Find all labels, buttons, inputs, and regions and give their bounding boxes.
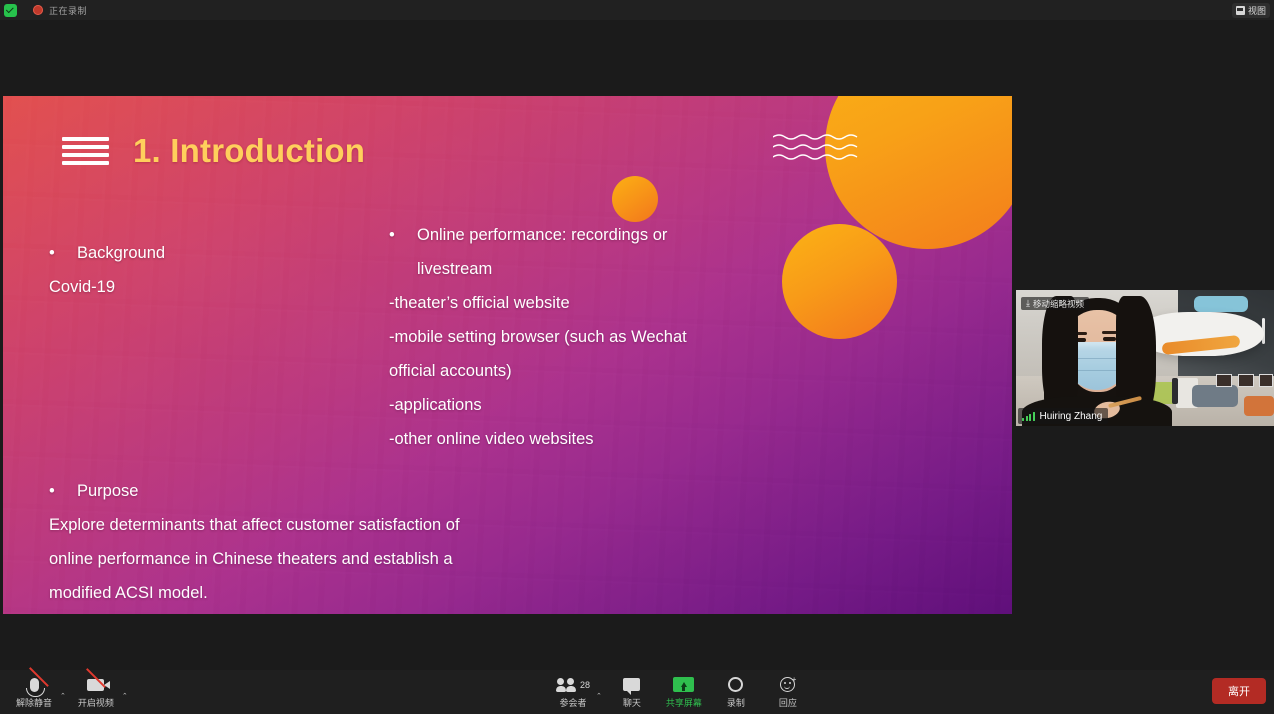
video-feed: [1016, 290, 1274, 426]
bullet-dot-icon: [49, 474, 77, 508]
mute-label: 解除静音: [16, 696, 52, 709]
wavy-lines-icon: [773, 133, 869, 163]
mobile-browser-line: -mobile setting browser (such as Wechat: [389, 320, 779, 354]
video-options-caret-icon[interactable]: ⌃: [122, 693, 132, 712]
move-thumbnail-button[interactable]: ⤓ 移动缩略视频: [1021, 297, 1089, 310]
recording-status-label: 正在录制: [49, 4, 87, 17]
hamburger-icon: [62, 137, 109, 165]
reactions-smiley-icon: +: [780, 675, 795, 694]
bullet-dot-icon: [389, 218, 417, 252]
livestream-line: livestream: [389, 252, 779, 286]
participants-button[interactable]: 28 参会者: [550, 673, 596, 712]
start-video-label: 开启视频: [78, 696, 114, 709]
slide-title: 1. Introduction: [133, 132, 365, 170]
top-status-bar: 正在录制 视图: [0, 0, 1274, 20]
applications-line: -applications: [389, 388, 779, 422]
shared-screen-slide[interactable]: 1. Introduction Background Covid-19 Onli…: [3, 96, 1012, 614]
share-screen-button[interactable]: 共享屏幕: [658, 673, 710, 712]
view-layout-label: 视图: [1248, 4, 1266, 17]
share-screen-icon: [673, 675, 694, 694]
shield-check-icon[interactable]: [4, 4, 17, 17]
toolbar-left-group: 解除静音 ⌃ 开启视频 ⌃: [8, 673, 132, 712]
background-bullet-label: Background: [77, 236, 165, 270]
reactions-button[interactable]: + 回应: [762, 673, 814, 712]
background-bullet: Background: [49, 236, 379, 270]
theater-website-line: -theater’s official website: [389, 286, 779, 320]
record-label: 录制: [727, 696, 745, 709]
participant-name-label: Huiring Zhang: [1040, 411, 1103, 422]
pin-icon: ⤓: [1026, 299, 1030, 308]
mute-options-caret-icon[interactable]: ⌃: [60, 693, 70, 712]
record-circle-icon: [728, 675, 743, 694]
meeting-toolbar: 解除静音 ⌃ 开启视频 ⌃ 28 参会者: [0, 670, 1274, 714]
other-video-websites-line: -other online video websites: [389, 422, 779, 456]
camera-off-icon: [87, 675, 104, 694]
participants-options-caret-icon[interactable]: ⌃: [596, 693, 606, 712]
slide-right-column: Online performance: recordings or livest…: [389, 218, 779, 456]
online-performance-label: Online performance: recordings or: [417, 218, 667, 252]
slide-header: 1. Introduction: [62, 132, 365, 170]
move-thumbnail-label: 移动缩略视频: [1033, 298, 1084, 310]
covid-line: Covid-19: [49, 270, 379, 304]
zoom-meeting-window: 正在录制 视图 1. Introduction Background: [0, 0, 1274, 714]
toolbar-center-group: 28 参会者 ⌃ 聊天 共享屏幕 录制 +: [550, 673, 814, 712]
purpose-bullet: Purpose: [49, 474, 579, 508]
slide-purpose-section: Purpose Explore determinants that affect…: [49, 474, 579, 610]
leave-meeting-button[interactable]: 离开: [1212, 678, 1266, 704]
slide-left-column: Background Covid-19: [49, 236, 379, 304]
orange-circle-medium-icon: [782, 224, 897, 339]
purpose-line-3: modified ACSI model.: [49, 576, 579, 610]
mute-button[interactable]: 解除静音: [8, 673, 60, 712]
top-bar-left-group: 正在录制: [0, 4, 87, 17]
people-icon: 28: [556, 675, 590, 694]
bullet-dot-icon: [49, 236, 77, 270]
chat-button[interactable]: 聊天: [606, 673, 658, 712]
participants-label: 参会者: [560, 696, 587, 709]
record-button[interactable]: 录制: [710, 673, 762, 712]
purpose-line-1: Explore determinants that affect custome…: [49, 508, 579, 542]
chat-label: 聊天: [623, 696, 641, 709]
participant-video-thumbnail[interactable]: ⤓ 移动缩略视频 Huiring Zhang: [1016, 290, 1274, 426]
online-performance-bullet: Online performance: recordings or: [389, 218, 779, 252]
recording-dot-icon[interactable]: [33, 5, 43, 15]
official-accounts-line: official accounts): [389, 354, 779, 388]
view-layout-icon: [1236, 6, 1245, 15]
purpose-line-2: online performance in Chinese theaters a…: [49, 542, 579, 576]
participant-name-badge: Huiring Zhang: [1018, 408, 1108, 424]
microphone-muted-icon: [30, 675, 39, 694]
signal-bars-icon: [1022, 412, 1035, 421]
orange-circle-small-icon: [612, 176, 658, 222]
participants-count: 28: [580, 680, 590, 690]
share-screen-label: 共享屏幕: [666, 696, 702, 709]
reactions-label: 回应: [779, 696, 797, 709]
view-layout-button[interactable]: 视图: [1232, 3, 1270, 18]
chat-bubble-icon: [623, 675, 640, 694]
purpose-bullet-label: Purpose: [77, 474, 138, 508]
start-video-button[interactable]: 开启视频: [70, 673, 122, 712]
